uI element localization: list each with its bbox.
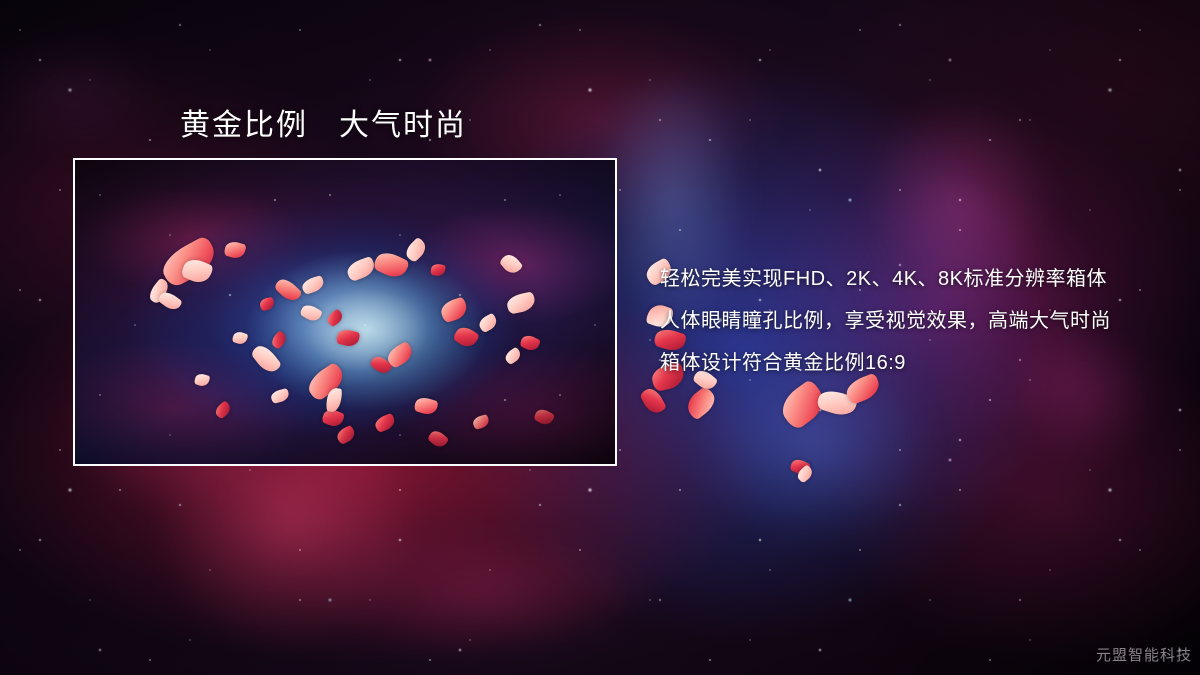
photo-vignette [75,160,615,464]
description-line: 人体眼睛瞳孔比例，享受视觉效果，高端大气时尚 [660,300,1160,342]
watermark: 元盟智能科技 [1096,644,1192,665]
description-block: 轻松完美实现FHD、2K、4K、8K标准分辨率箱体 人体眼睛瞳孔比例，享受视觉效… [660,258,1160,384]
description-line: 轻松完美实现FHD、2K、4K、8K标准分辨率箱体 [660,258,1160,300]
presentation-slide: 黄金比例 大气时尚 轻松完美实现FHD、2K、4K、8K标准分辨率箱体 人体眼睛… [0,0,1200,675]
description-line: 箱体设计符合黄金比例16:9 [660,342,1160,384]
page-title: 黄金比例 大气时尚 [180,100,467,144]
image-frame [73,158,617,466]
